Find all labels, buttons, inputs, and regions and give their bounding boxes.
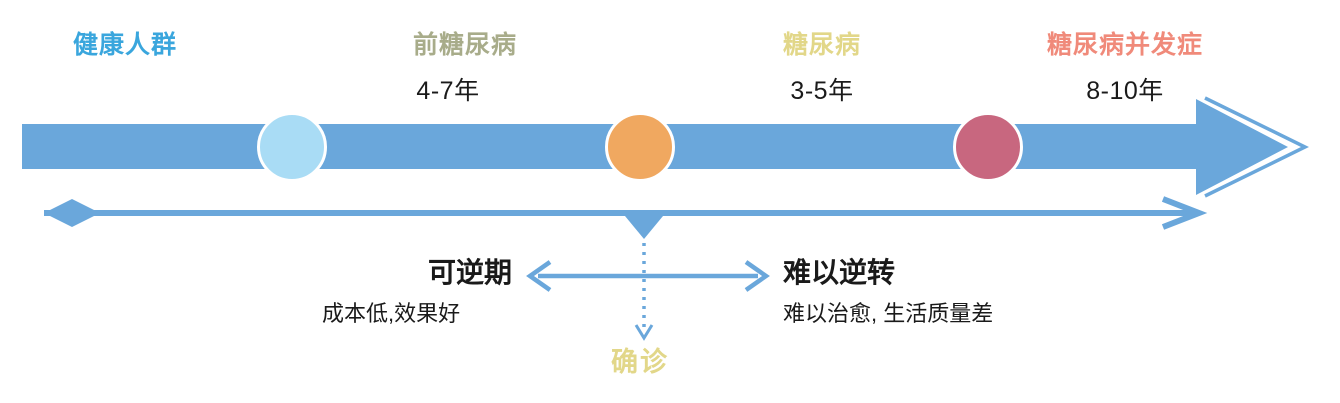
stage-marker-diabetes bbox=[953, 112, 1023, 182]
stage-label-healthy: 健康人群 bbox=[73, 30, 177, 60]
phase-title-irreversible: 难以逆转 bbox=[783, 256, 895, 290]
stage-label-diabetes: 糖尿病 bbox=[783, 30, 861, 60]
phase-title-reversible: 可逆期 bbox=[428, 256, 512, 290]
diagnosis-label: 确诊 bbox=[611, 345, 669, 379]
reversibility-double-arrow bbox=[520, 258, 775, 294]
phase-subtitle-reversible: 成本低,效果好 bbox=[322, 300, 460, 328]
stage-label-prediabetes: 前糖尿病 bbox=[413, 30, 517, 60]
timeline-span-arrow bbox=[0, 195, 1340, 245]
stage-marker-prediabetes bbox=[605, 112, 675, 182]
span-arrow-diamond-start bbox=[44, 199, 100, 227]
stage-label-complications: 糖尿病并发症 bbox=[1047, 30, 1203, 60]
stage-marker-healthy bbox=[257, 112, 327, 182]
diabetes-progression-diagram: 健康人群 前糖尿病 糖尿病 糖尿病并发症 4-7年 3-5年 8-10年 可逆期… bbox=[0, 0, 1340, 403]
phase-subtitle-irreversible: 难以治愈, 生活质量差 bbox=[783, 300, 993, 328]
